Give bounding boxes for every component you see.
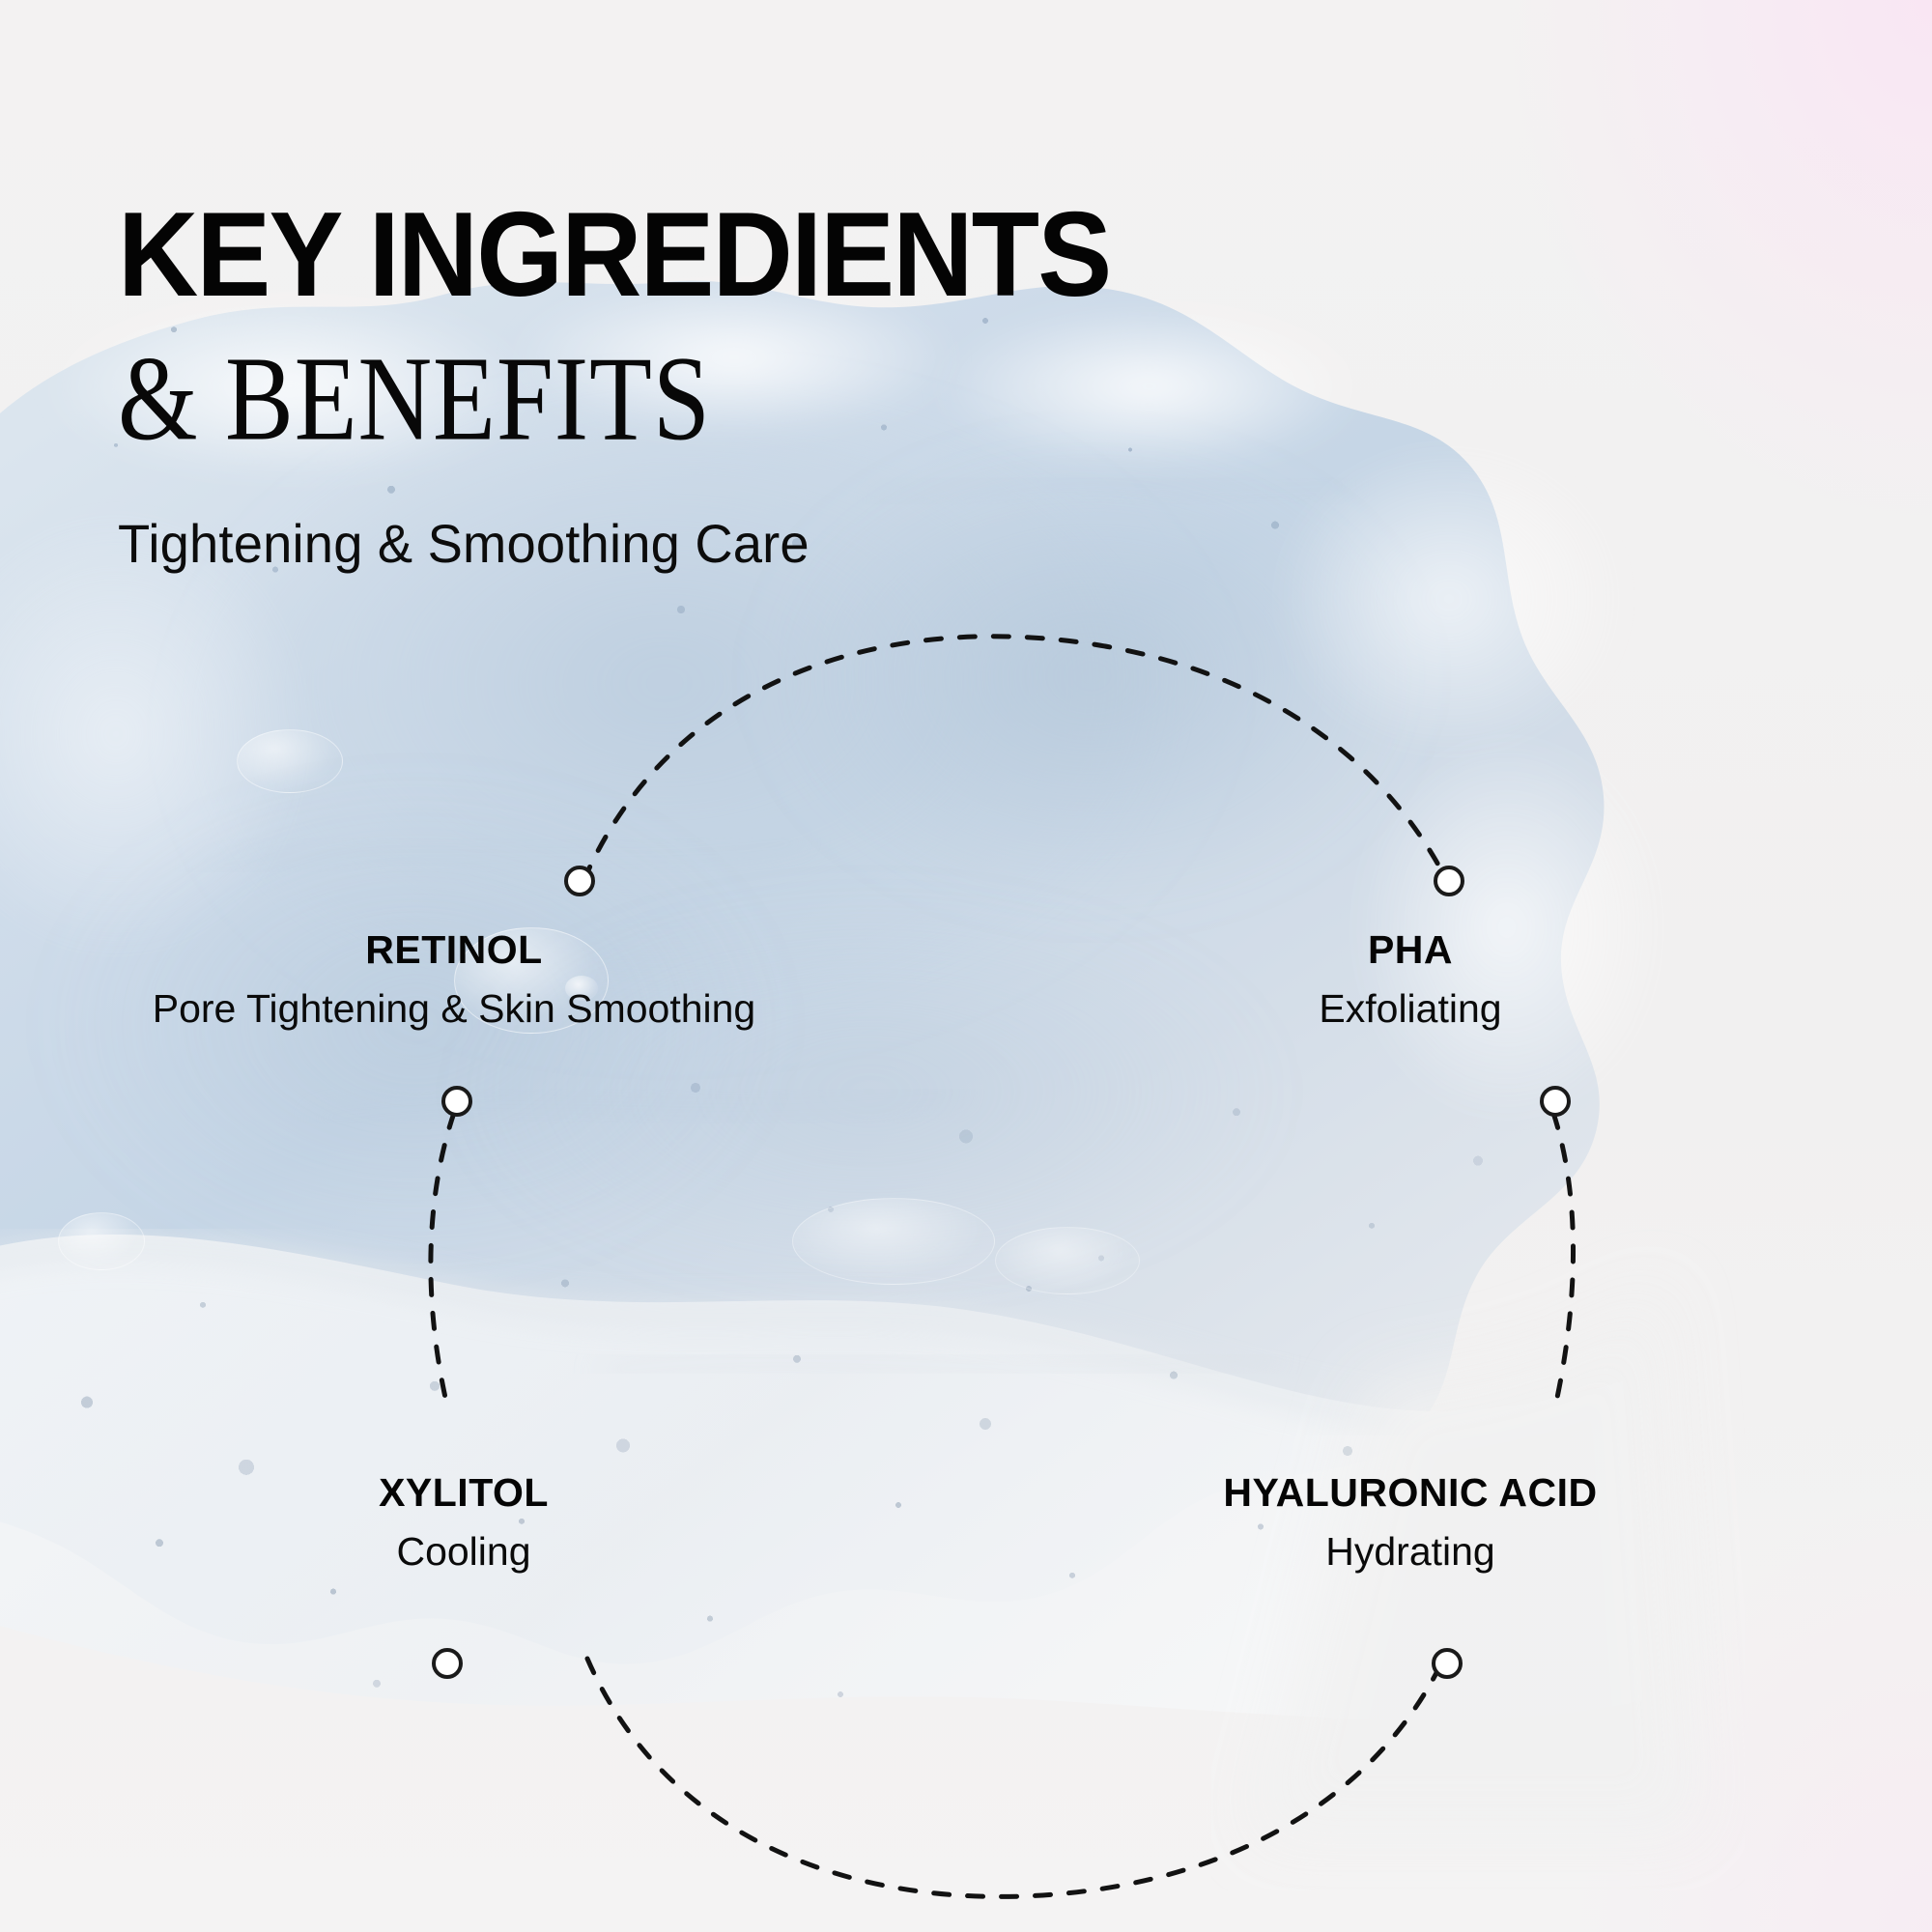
ingredient-connector-diagram: RETINOL Pore Tightening & Skin Smoothing… <box>0 0 1932 1932</box>
ingredient-xylitol-name: XYLITOL <box>241 1470 686 1516</box>
node-hyaluronic <box>1434 1650 1461 1677</box>
ingredient-retinol-name: RETINOL <box>106 927 802 973</box>
ingredient-pha-benefit: Exfoliating <box>1217 986 1604 1032</box>
node-xylitol <box>434 1650 461 1677</box>
node-retinol-bottom <box>443 1088 470 1115</box>
ingredient-xylitol: XYLITOL Cooling <box>241 1470 686 1575</box>
ingredient-retinol-benefit: Pore Tightening & Skin Smoothing <box>106 986 802 1032</box>
node-pha-top <box>1435 867 1463 895</box>
connector-bottom-arc <box>587 1659 1443 1896</box>
ingredient-pha-name: PHA <box>1217 927 1604 973</box>
ingredient-xylitol-benefit: Cooling <box>241 1529 686 1575</box>
ingredient-hyaluronic-acid-benefit: Hydrating <box>1034 1529 1787 1575</box>
ingredient-hyaluronic-acid: HYALURONIC ACID Hydrating <box>1034 1470 1787 1575</box>
node-pha-bottom <box>1542 1088 1569 1115</box>
node-retinol-top <box>566 867 593 895</box>
connector-left <box>431 1113 454 1410</box>
connector-top-arc <box>583 637 1446 881</box>
connector-right <box>1553 1113 1574 1406</box>
ingredient-hyaluronic-acid-name: HYALURONIC ACID <box>1034 1470 1787 1516</box>
ingredient-retinol: RETINOL Pore Tightening & Skin Smoothing <box>106 927 802 1032</box>
ingredient-pha: PHA Exfoliating <box>1217 927 1604 1032</box>
